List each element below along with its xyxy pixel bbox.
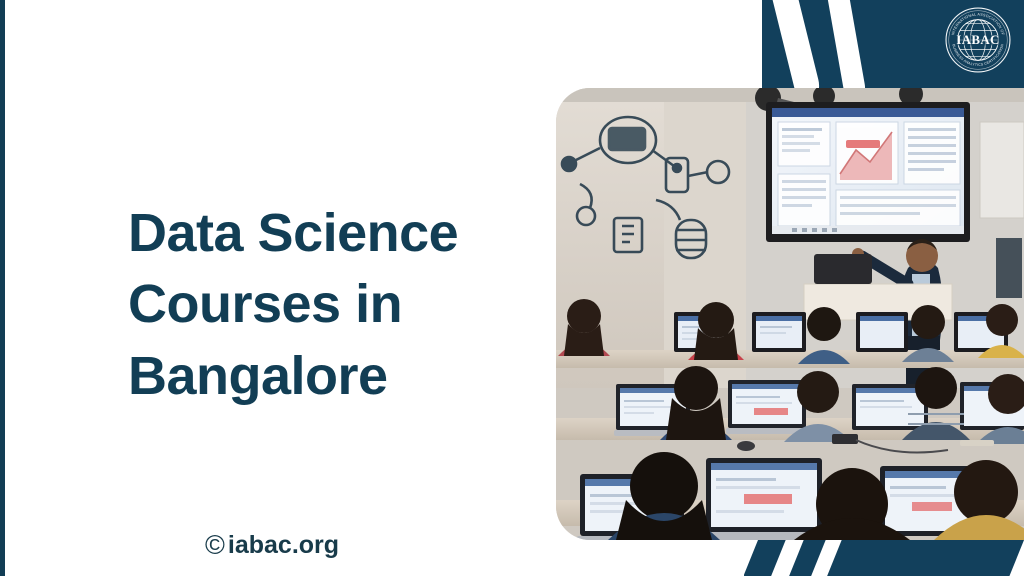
copyright-icon: ©	[205, 532, 225, 559]
page-title: Data Science Courses in Bangalore	[128, 198, 558, 412]
left-accent-stripe	[0, 0, 5, 576]
title-line-2: Courses in	[128, 269, 558, 340]
classroom-photo	[556, 88, 1024, 540]
iabac-logo: IABAC INTERNATIONAL ASSOCIATION OF BUSIN…	[944, 6, 1012, 74]
poster-canvas: IABAC INTERNATIONAL ASSOCIATION OF BUSIN…	[0, 0, 1024, 576]
brand-name: iabac.org	[228, 531, 339, 560]
svg-text:IABAC: IABAC	[956, 32, 999, 47]
bottom-right-decorative-panel	[744, 540, 1024, 576]
brand-footer: © iabac.org	[205, 531, 339, 560]
title-line-1: Data Science	[128, 198, 558, 269]
title-line-3: Bangalore	[128, 341, 558, 412]
